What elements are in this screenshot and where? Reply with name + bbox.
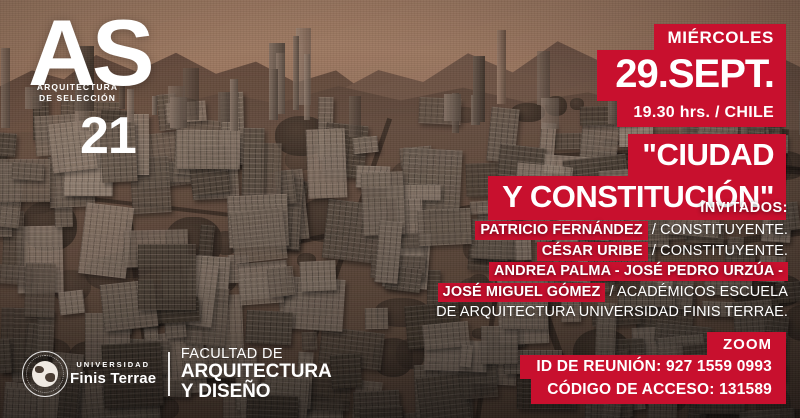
seal-globe bbox=[32, 361, 58, 387]
guests-block: INVITADOS: PATRICIO FERNÁNDEZ / CONSTITU… bbox=[268, 200, 788, 323]
as-logo: AS ARQUITECTURA DE SELECCIÓN 21 bbox=[28, 10, 218, 96]
guest-entry: PATRICIO FERNÁNDEZ / CONSTITUYENTE. bbox=[268, 220, 788, 241]
event-poster: AS ARQUITECTURA DE SELECCIÓN 21 MIÉRCOLE… bbox=[0, 0, 800, 418]
date-time-zone: 19.30 hrs. / CHILE bbox=[617, 100, 786, 127]
guest-entry: ANDREA PALMA - JOSÉ PEDRO URZÚA - bbox=[268, 261, 788, 282]
as-logo-subtitle: ARQUITECTURA DE SELECCIÓN bbox=[30, 82, 125, 105]
as-logo-subtitle-line1: ARQUITECTURA bbox=[30, 82, 125, 93]
event-title-line1: "CIUDAD bbox=[628, 134, 786, 177]
guest-name: ANDREA PALMA - JOSÉ PEDRO URZÚA - bbox=[489, 262, 788, 281]
guests-heading: INVITADOS: bbox=[268, 200, 788, 216]
as-logo-subtitle-line2: DE SELECCIÓN bbox=[30, 93, 125, 104]
guests-affiliation: DE ARQUITECTURA UNIVERSIDAD FINIS TERRAE… bbox=[268, 302, 788, 323]
globe-seal-icon bbox=[22, 351, 68, 397]
zoom-passcode: CÓDIGO DE ACCESO: 131589 bbox=[531, 378, 786, 404]
lockup-divider bbox=[168, 352, 170, 396]
university-lockup: UNIVERSIDAD Finis Terrae FACULTAD DE ARQ… bbox=[22, 346, 332, 402]
faculty-line1: FACULTAD DE bbox=[181, 346, 332, 362]
guest-name: PATRICIO FERNÁNDEZ bbox=[475, 221, 647, 240]
guest-role: / CONSTITUYENTE. bbox=[648, 243, 788, 259]
zoom-heading: ZOOM bbox=[707, 332, 786, 356]
faculty-line3: Y DISEÑO bbox=[181, 382, 332, 402]
guest-entry: CÉSAR URIBE / CONSTITUYENTE. bbox=[268, 241, 788, 262]
faculty-name: FACULTAD DE ARQUITECTURA Y DISEÑO bbox=[181, 346, 332, 402]
poster-content: AS ARQUITECTURA DE SELECCIÓN 21 MIÉRCOLE… bbox=[0, 0, 800, 418]
as-logo-year: 21 bbox=[80, 110, 136, 162]
date-weekday: MIÉRCOLES bbox=[654, 24, 786, 51]
zoom-details-block: ZOOM ID DE REUNIÓN: 927 1559 0993 CÓDIGO… bbox=[520, 332, 786, 404]
guest-name: JOSÉ MIGUEL GÓMEZ bbox=[438, 283, 606, 302]
date-block: MIÉRCOLES 29.SEPT. 19.30 hrs. / CHILE bbox=[597, 24, 786, 127]
guest-role: / CONSTITUYENTE. bbox=[648, 222, 788, 238]
university-name: UNIVERSIDAD Finis Terrae bbox=[70, 360, 156, 387]
zoom-meeting-id: ID DE REUNIÓN: 927 1559 0993 bbox=[520, 355, 786, 379]
date-day-month: 29.SEPT. bbox=[597, 50, 786, 101]
guest-entry: JOSÉ MIGUEL GÓMEZ / ACADÉMICOS ESCUELA bbox=[268, 282, 788, 303]
faculty-line2: ARQUITECTURA bbox=[181, 362, 332, 382]
university-name-bottom: Finis Terrae bbox=[70, 370, 156, 387]
guest-name: CÉSAR URIBE bbox=[537, 242, 648, 261]
guest-role: / ACADÉMICOS ESCUELA bbox=[605, 284, 788, 300]
university-name-top: UNIVERSIDAD bbox=[70, 360, 156, 369]
